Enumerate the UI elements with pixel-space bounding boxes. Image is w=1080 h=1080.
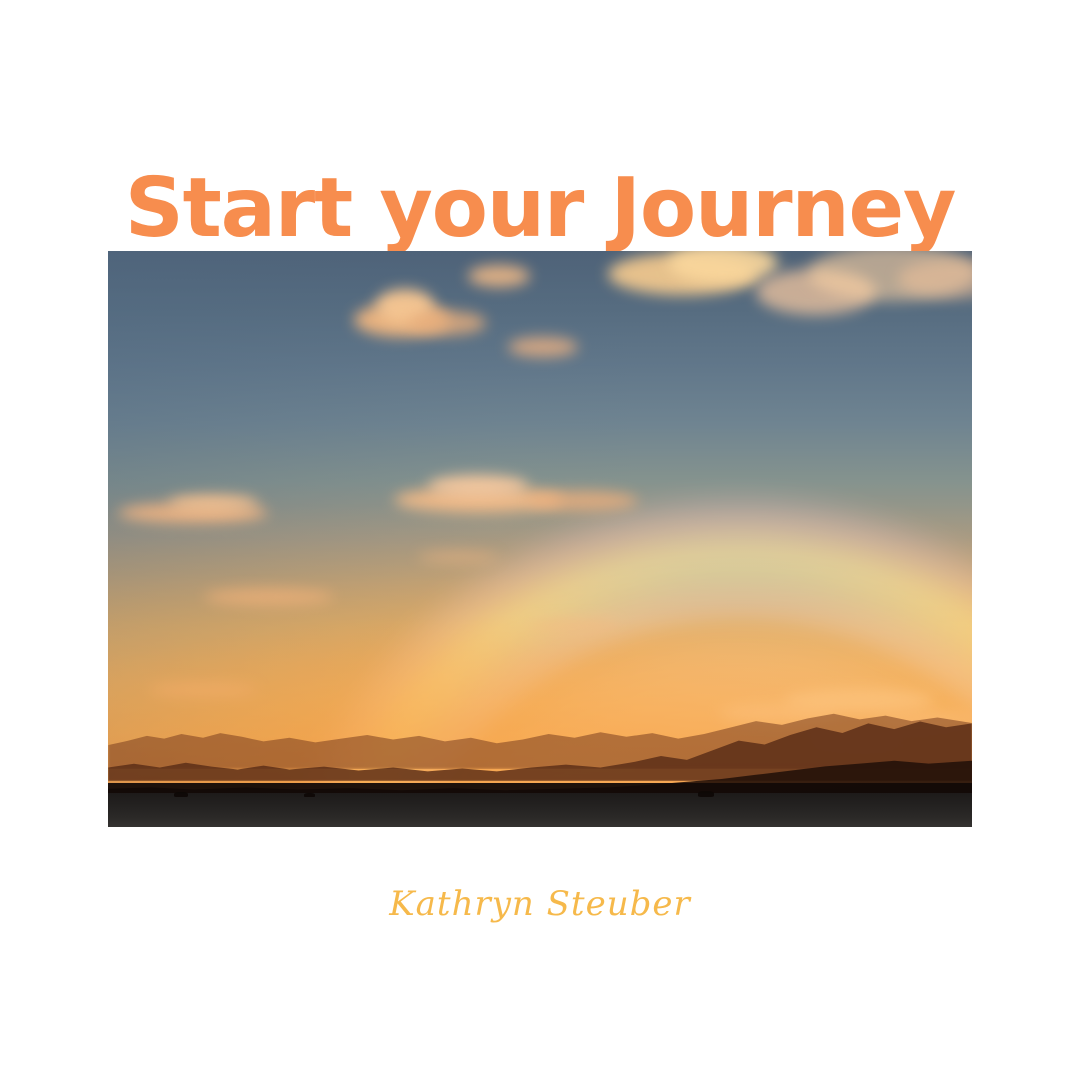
page-title: Start your Journey — [0, 159, 1080, 259]
water-surface — [108, 793, 972, 827]
boat-silhouette — [174, 792, 188, 797]
poster-canvas: Start your Journey — [0, 0, 1080, 1080]
boat-silhouette — [698, 791, 714, 797]
author-signature: Kathryn Steuber — [0, 884, 1080, 924]
hero-photo — [108, 251, 972, 827]
boat-silhouette — [304, 793, 315, 797]
